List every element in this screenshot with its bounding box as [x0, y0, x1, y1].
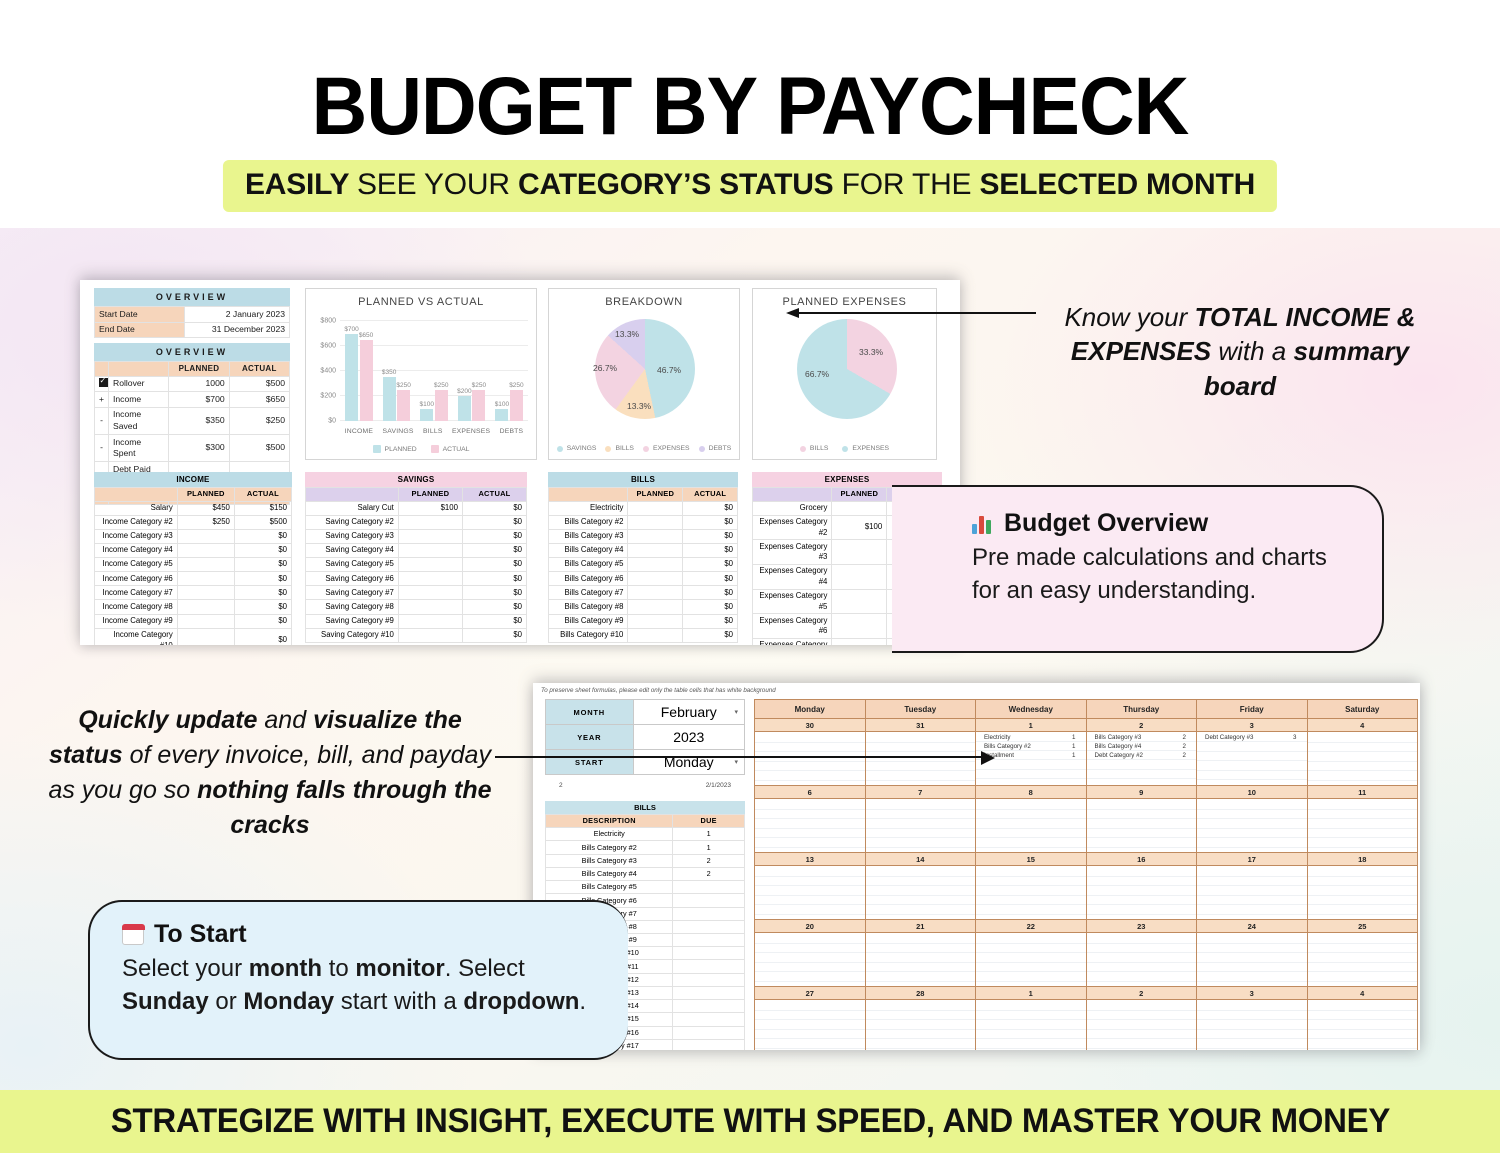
empty-row[interactable]	[1308, 1030, 1418, 1040]
bill-due-day[interactable]	[673, 947, 745, 960]
planned-value[interactable]	[398, 529, 462, 543]
calendar-event[interactable]: Bills Category #32	[1087, 733, 1197, 742]
empty-row[interactable]	[755, 934, 865, 944]
empty-row[interactable]	[976, 944, 1086, 954]
planned-value[interactable]	[398, 544, 462, 558]
planned-value[interactable]	[628, 529, 683, 543]
empty-row[interactable]	[1308, 934, 1418, 944]
empty-row[interactable]	[1197, 1039, 1307, 1049]
week-daynum-row: 27281234	[755, 987, 1418, 1000]
bill-description[interactable]: Bills Category #5	[546, 881, 673, 894]
empty-row[interactable]	[866, 1039, 976, 1049]
calendar-day-cell[interactable]	[1086, 799, 1197, 853]
empty-row[interactable]	[1308, 953, 1418, 963]
planned-value[interactable]	[177, 529, 234, 543]
row-symbol	[95, 376, 109, 392]
empty-row[interactable]	[866, 800, 976, 810]
empty-row[interactable]	[1308, 819, 1418, 829]
category-name: Bills Category #7	[549, 586, 628, 600]
empty-row[interactable]	[1197, 838, 1307, 848]
empty-row[interactable]	[976, 963, 1086, 973]
actual-value[interactable]: $0	[234, 558, 291, 572]
empty-row[interactable]	[1087, 800, 1197, 810]
calendar-day-cell[interactable]	[755, 1000, 866, 1051]
actual-value[interactable]: $0	[683, 544, 738, 558]
actual-value[interactable]: $500	[234, 515, 291, 529]
empty-row[interactable]	[1197, 819, 1307, 829]
actual-value[interactable]: $0	[683, 558, 738, 572]
planned-value[interactable]	[628, 600, 683, 614]
actual-value[interactable]: $0	[462, 544, 526, 558]
empty-row[interactable]	[755, 953, 865, 963]
planned-value[interactable]	[398, 515, 462, 529]
actual-value[interactable]: $0	[234, 586, 291, 600]
actual-value[interactable]: $0	[234, 544, 291, 558]
empty-row[interactable]	[1087, 819, 1197, 829]
bar-value-label: $250	[434, 382, 448, 389]
planned-value[interactable]	[832, 540, 887, 565]
empty-row[interactable]	[1087, 963, 1197, 973]
column-header: ACTUAL	[683, 488, 738, 502]
empty-row[interactable]	[866, 905, 976, 915]
empty-row[interactable]	[1087, 829, 1197, 839]
empty-row[interactable]	[976, 1001, 1086, 1011]
empty-row[interactable]	[866, 1011, 976, 1021]
empty-row[interactable]	[1308, 771, 1418, 781]
actual-value[interactable]: $0	[683, 515, 738, 529]
calendar-day-cell[interactable]: Bills Category #32Bills Category #42Debt…	[1086, 732, 1197, 786]
empty-row[interactable]	[1087, 1011, 1197, 1021]
calendar-day-cell[interactable]	[865, 1000, 976, 1051]
empty-row[interactable]	[976, 877, 1086, 887]
actual-value[interactable]: $0	[462, 572, 526, 586]
calendar-day-cell[interactable]	[1307, 933, 1418, 987]
empty-row[interactable]	[976, 905, 1086, 915]
empty-row[interactable]	[1308, 1001, 1418, 1011]
empty-row[interactable]	[755, 1030, 865, 1040]
empty-row[interactable]	[755, 1001, 865, 1011]
empty-row[interactable]	[755, 867, 865, 877]
empty-row[interactable]	[1308, 905, 1418, 915]
empty-row[interactable]	[1087, 953, 1197, 963]
empty-row[interactable]	[755, 838, 865, 848]
planned-value[interactable]	[398, 572, 462, 586]
actual-value[interactable]: $0	[462, 529, 526, 543]
empty-row[interactable]	[1087, 1039, 1197, 1049]
empty-row[interactable]	[866, 877, 976, 887]
empty-row[interactable]	[1087, 1020, 1197, 1030]
actual-value[interactable]: $650	[229, 392, 289, 408]
calendar-event[interactable]: Debt Category #33	[1197, 733, 1307, 742]
empty-row[interactable]	[976, 934, 1086, 944]
empty-row[interactable]	[1197, 1020, 1307, 1030]
empty-row[interactable]	[866, 886, 976, 896]
planned-value[interactable]: $350	[169, 407, 229, 434]
empty-row[interactable]	[755, 896, 865, 906]
planned-value[interactable]: $100	[832, 515, 887, 540]
calendar-day-cell[interactable]	[1197, 799, 1308, 853]
empty-row[interactable]	[1308, 733, 1418, 743]
planned-value[interactable]	[177, 586, 234, 600]
bill-description[interactable]: Bills Category #4	[546, 867, 673, 880]
actual-value[interactable]: $0	[683, 628, 738, 642]
empty-row[interactable]	[866, 810, 976, 820]
planned-value[interactable]: $450	[177, 501, 234, 515]
planned-value[interactable]	[177, 572, 234, 586]
table-row: Income Category #8$0	[95, 600, 292, 614]
empty-row[interactable]	[866, 733, 976, 743]
calendar-day-cell[interactable]	[1086, 1000, 1197, 1051]
bill-due-day[interactable]	[673, 960, 745, 973]
empty-row[interactable]	[1087, 934, 1197, 944]
planned-value[interactable]	[628, 501, 683, 515]
empty-row[interactable]	[976, 1039, 1086, 1049]
actual-value[interactable]: $0	[234, 614, 291, 628]
empty-row[interactable]	[1087, 886, 1197, 896]
empty-row[interactable]	[1197, 905, 1307, 915]
category-name: Expenses Category #6	[753, 614, 832, 639]
empty-row[interactable]	[755, 819, 865, 829]
planned-value[interactable]: $300	[169, 435, 229, 462]
empty-row[interactable]	[1087, 810, 1197, 820]
planned-value[interactable]	[628, 628, 683, 642]
empty-row[interactable]	[1197, 877, 1307, 887]
planned-value[interactable]	[177, 558, 234, 572]
empty-row[interactable]	[866, 934, 976, 944]
empty-row[interactable]	[1087, 877, 1197, 887]
actual-value[interactable]: $0	[683, 614, 738, 628]
bill-due-day[interactable]: 1	[673, 841, 745, 854]
planned-value[interactable]	[628, 515, 683, 529]
empty-row[interactable]	[976, 829, 1086, 839]
empty-row[interactable]	[976, 867, 1086, 877]
empty-row[interactable]	[976, 810, 1086, 820]
empty-row[interactable]	[755, 800, 865, 810]
calendar-day-cell[interactable]	[1307, 1000, 1418, 1051]
calendar-event[interactable]: Bills Category #42	[1087, 742, 1197, 751]
y-axis-tick: $200	[320, 393, 336, 400]
empty-row[interactable]	[1308, 838, 1418, 848]
actual-value[interactable]: $0	[234, 628, 291, 645]
empty-row[interactable]	[866, 1020, 976, 1030]
empty-row[interactable]	[1087, 896, 1197, 906]
actual-value[interactable]: $0	[462, 586, 526, 600]
calendar-day-cell[interactable]	[1307, 799, 1418, 853]
empty-row[interactable]	[976, 1020, 1086, 1030]
planned-value[interactable]	[832, 565, 887, 590]
empty-row[interactable]	[976, 800, 1086, 810]
calendar-event[interactable]: Debt Category #22	[1087, 751, 1197, 760]
income-table[interactable]: INCOME PLANNEDACTUALSalary$450$150Income…	[94, 472, 292, 645]
actual-value[interactable]: $0	[234, 572, 291, 586]
spacer	[753, 488, 832, 502]
empty-row[interactable]	[866, 819, 976, 829]
empty-row[interactable]	[1087, 838, 1197, 848]
planned-value[interactable]: $700	[169, 392, 229, 408]
empty-row[interactable]	[1308, 810, 1418, 820]
actual-value[interactable]: $500	[229, 435, 289, 462]
control-value-month[interactable]: February▾	[633, 700, 744, 725]
bill-due-day[interactable]	[673, 1013, 745, 1026]
planned-value[interactable]	[177, 600, 234, 614]
savings-table-title: SAVINGS	[305, 472, 527, 487]
calendar-day-cell[interactable]	[976, 933, 1087, 987]
checkbox-checked-icon[interactable]	[99, 378, 108, 387]
actual-value[interactable]: $0	[234, 529, 291, 543]
empty-row[interactable]	[755, 886, 865, 896]
bill-due-day[interactable]	[673, 986, 745, 999]
empty-row[interactable]	[1197, 829, 1307, 839]
empty-row[interactable]	[1197, 1030, 1307, 1040]
empty-row[interactable]	[1197, 963, 1307, 973]
empty-row[interactable]	[1087, 905, 1197, 915]
empty-row[interactable]	[1308, 877, 1418, 887]
empty-row[interactable]	[1197, 771, 1307, 781]
table-row: Bills Category #5$0	[549, 558, 738, 572]
actual-value[interactable]: $0	[462, 558, 526, 572]
calendar-day-cell[interactable]	[976, 1000, 1087, 1051]
bill-description[interactable]: Bills Category #3	[546, 854, 673, 867]
empty-row[interactable]	[976, 838, 1086, 848]
planned-value[interactable]	[177, 614, 234, 628]
bill-description[interactable]: Bills Category #2	[546, 841, 673, 854]
empty-row[interactable]	[1197, 944, 1307, 954]
calendar-day-cell[interactable]	[755, 933, 866, 987]
week-content-row	[755, 866, 1418, 920]
calendar-day-cell[interactable]	[755, 866, 866, 920]
empty-row[interactable]	[866, 867, 976, 877]
savings-table[interactable]: SAVINGS PLANNEDACTUALSalary Cut$100$0Sav…	[305, 472, 527, 643]
actual-value[interactable]: $0	[462, 501, 526, 515]
empty-row[interactable]	[866, 838, 976, 848]
planned-value[interactable]	[398, 628, 462, 642]
empty-row[interactable]	[1197, 934, 1307, 944]
empty-row[interactable]	[755, 810, 865, 820]
empty-row[interactable]	[1197, 953, 1307, 963]
empty-row[interactable]	[1087, 867, 1197, 877]
empty-row[interactable]	[755, 877, 865, 887]
empty-row[interactable]	[976, 886, 1086, 896]
empty-row[interactable]	[1087, 972, 1197, 982]
calendar-day-cell[interactable]	[1086, 866, 1197, 920]
bill-due-day[interactable]	[673, 907, 745, 920]
empty-row[interactable]	[976, 1011, 1086, 1021]
bills-table[interactable]: BILLS PLANNEDACTUALElectricity$0Bills Ca…	[548, 472, 738, 643]
empty-row[interactable]	[1197, 972, 1307, 982]
empty-row[interactable]	[755, 1020, 865, 1030]
empty-row[interactable]	[1197, 1001, 1307, 1011]
calendar-spreadsheet[interactable]: To preserve sheet formulas, please edit …	[533, 683, 1420, 1050]
planned-value[interactable]	[832, 501, 887, 515]
empty-row[interactable]	[755, 829, 865, 839]
bill-description[interactable]: Electricity	[546, 828, 673, 841]
calendar-day-cell[interactable]	[865, 866, 976, 920]
legend-item: DEBTS	[699, 445, 732, 452]
bill-due-day[interactable]	[673, 1039, 745, 1050]
bill-due-day[interactable]: 2	[673, 854, 745, 867]
calendar-day-cell[interactable]	[865, 799, 976, 853]
empty-row[interactable]	[1308, 752, 1418, 762]
empty-row[interactable]	[1308, 1039, 1418, 1049]
column-header: PLANNED	[832, 488, 887, 502]
empty-row[interactable]	[1197, 761, 1307, 771]
empty-row[interactable]	[976, 819, 1086, 829]
calendar-day-cell[interactable]	[976, 799, 1087, 853]
empty-row[interactable]	[866, 1001, 976, 1011]
empty-row[interactable]	[1197, 752, 1307, 762]
planned-value[interactable]: $100	[398, 501, 462, 515]
empty-row[interactable]	[976, 953, 1086, 963]
actual-value[interactable]: $0	[683, 501, 738, 515]
empty-row[interactable]	[1308, 829, 1418, 839]
empty-row[interactable]	[1087, 1001, 1197, 1011]
calendar-day-cell[interactable]: Debt Category #33	[1197, 732, 1308, 786]
planned-value[interactable]	[398, 558, 462, 572]
empty-row[interactable]	[976, 972, 1086, 982]
empty-row[interactable]	[866, 896, 976, 906]
table-row: Income Category #6$0	[95, 572, 292, 586]
actual-value[interactable]: $0	[462, 515, 526, 529]
bar-actual: $250	[435, 390, 448, 421]
empty-row[interactable]	[755, 963, 865, 973]
empty-row[interactable]	[866, 953, 976, 963]
control-value-year[interactable]: 2023	[633, 725, 744, 750]
bill-due-day[interactable]	[673, 973, 745, 986]
planned-value[interactable]: 1000	[169, 376, 229, 392]
planned-value[interactable]	[628, 572, 683, 586]
planned-value[interactable]	[628, 614, 683, 628]
calendar-day-cell[interactable]	[1307, 866, 1418, 920]
empty-row[interactable]	[976, 896, 1086, 906]
actual-value[interactable]: $0	[683, 586, 738, 600]
actual-value[interactable]: $150	[234, 501, 291, 515]
empty-row[interactable]	[1308, 1020, 1418, 1030]
actual-value[interactable]: $0	[462, 628, 526, 642]
calendar-day-cell[interactable]	[1086, 933, 1197, 987]
empty-row[interactable]	[866, 972, 976, 982]
empty-row[interactable]	[866, 771, 976, 781]
empty-row[interactable]	[866, 1030, 976, 1040]
empty-row[interactable]	[1087, 1030, 1197, 1040]
actual-value[interactable]: $500	[229, 376, 289, 392]
actual-value[interactable]: $0	[234, 600, 291, 614]
planned-value[interactable]	[628, 544, 683, 558]
empty-row[interactable]	[866, 944, 976, 954]
sheet-note: To preserve sheet formulas, please edit …	[541, 687, 776, 694]
empty-row[interactable]	[755, 944, 865, 954]
planned-value[interactable]	[398, 586, 462, 600]
calendar-day-cell[interactable]	[1307, 732, 1418, 786]
empty-row[interactable]	[1197, 810, 1307, 820]
legend-swatch	[431, 445, 439, 453]
row-label: Income	[109, 392, 169, 408]
overview-date-value[interactable]: 31 December 2023	[184, 322, 289, 338]
planned-value[interactable]	[832, 638, 887, 645]
actual-value[interactable]: $0	[683, 572, 738, 586]
empty-row[interactable]	[1197, 896, 1307, 906]
empty-row[interactable]	[1308, 886, 1418, 896]
empty-row[interactable]	[1308, 963, 1418, 973]
empty-row[interactable]	[866, 963, 976, 973]
empty-row[interactable]	[1308, 1011, 1418, 1021]
empty-row[interactable]	[1308, 972, 1418, 982]
bill-due-day[interactable]	[673, 1026, 745, 1039]
empty-row[interactable]	[1197, 886, 1307, 896]
empty-row[interactable]	[866, 829, 976, 839]
empty-row[interactable]	[1197, 742, 1307, 752]
calendar-day-cell[interactable]	[976, 866, 1087, 920]
budget-overview-spreadsheet[interactable]: OVERVIEW Start Date2 January 2023End Dat…	[80, 280, 960, 645]
calendar-day-number: 11	[1307, 786, 1418, 799]
bill-due-day[interactable]	[673, 1000, 745, 1013]
empty-row[interactable]	[1308, 800, 1418, 810]
planned-value[interactable]	[832, 614, 887, 639]
empty-row[interactable]	[1087, 760, 1197, 770]
empty-row[interactable]	[1087, 770, 1197, 780]
calendar-day-cell[interactable]	[865, 933, 976, 987]
planned-value[interactable]: $250	[177, 515, 234, 529]
empty-row[interactable]	[1308, 896, 1418, 906]
calendar-day-cell[interactable]	[1197, 1000, 1308, 1051]
planned-value[interactable]	[177, 544, 234, 558]
actual-value[interactable]: $0	[683, 529, 738, 543]
bill-due-day[interactable]	[673, 933, 745, 946]
planned-value[interactable]	[628, 558, 683, 572]
empty-row[interactable]	[1308, 944, 1418, 954]
planned-value[interactable]	[832, 589, 887, 614]
empty-row[interactable]	[1308, 743, 1418, 753]
empty-row[interactable]	[1197, 1011, 1307, 1021]
actual-value[interactable]: $0	[462, 614, 526, 628]
bill-due-day[interactable]	[673, 881, 745, 894]
planned-value[interactable]	[628, 586, 683, 600]
chevron-down-icon[interactable]: ▾	[734, 708, 738, 716]
overview-date-value[interactable]: 2 January 2023	[184, 307, 289, 323]
bar-plot-area: $0$200$400$600$800 $700$650$350$250$100$…	[340, 321, 528, 421]
empty-row[interactable]	[1308, 762, 1418, 772]
category-name: Income Category #6	[95, 572, 178, 586]
actual-value[interactable]: $0	[683, 600, 738, 614]
calendar-day-cell[interactable]	[755, 799, 866, 853]
planned-value[interactable]	[398, 600, 462, 614]
bubble-budget-overview-title: Budget Overview	[972, 509, 1354, 538]
empty-row[interactable]	[755, 905, 865, 915]
empty-row[interactable]	[755, 1039, 865, 1049]
bill-due-day[interactable]	[673, 920, 745, 933]
empty-row[interactable]	[755, 972, 865, 982]
bill-due-day[interactable]: 1	[673, 828, 745, 841]
empty-row[interactable]	[976, 770, 1086, 780]
empty-row[interactable]	[976, 1030, 1086, 1040]
table-row: Bills Category #5	[546, 881, 745, 894]
empty-row[interactable]	[1308, 867, 1418, 877]
planned-value[interactable]	[398, 614, 462, 628]
empty-row[interactable]	[755, 1011, 865, 1021]
actual-value[interactable]: $0	[462, 600, 526, 614]
bill-due-day[interactable]: 2	[673, 867, 745, 880]
planned-value[interactable]	[177, 628, 234, 645]
bill-due-day[interactable]	[673, 894, 745, 907]
empty-row[interactable]	[1197, 867, 1307, 877]
calendar-day-cell[interactable]	[1197, 866, 1308, 920]
calendar-day-cell[interactable]	[1197, 933, 1308, 987]
empty-row[interactable]	[1087, 944, 1197, 954]
empty-row[interactable]	[755, 771, 865, 781]
empty-row[interactable]	[755, 733, 865, 743]
actual-value[interactable]: $250	[229, 407, 289, 434]
calendar-event[interactable]: Electricity1	[976, 733, 1086, 742]
empty-row[interactable]	[1197, 800, 1307, 810]
